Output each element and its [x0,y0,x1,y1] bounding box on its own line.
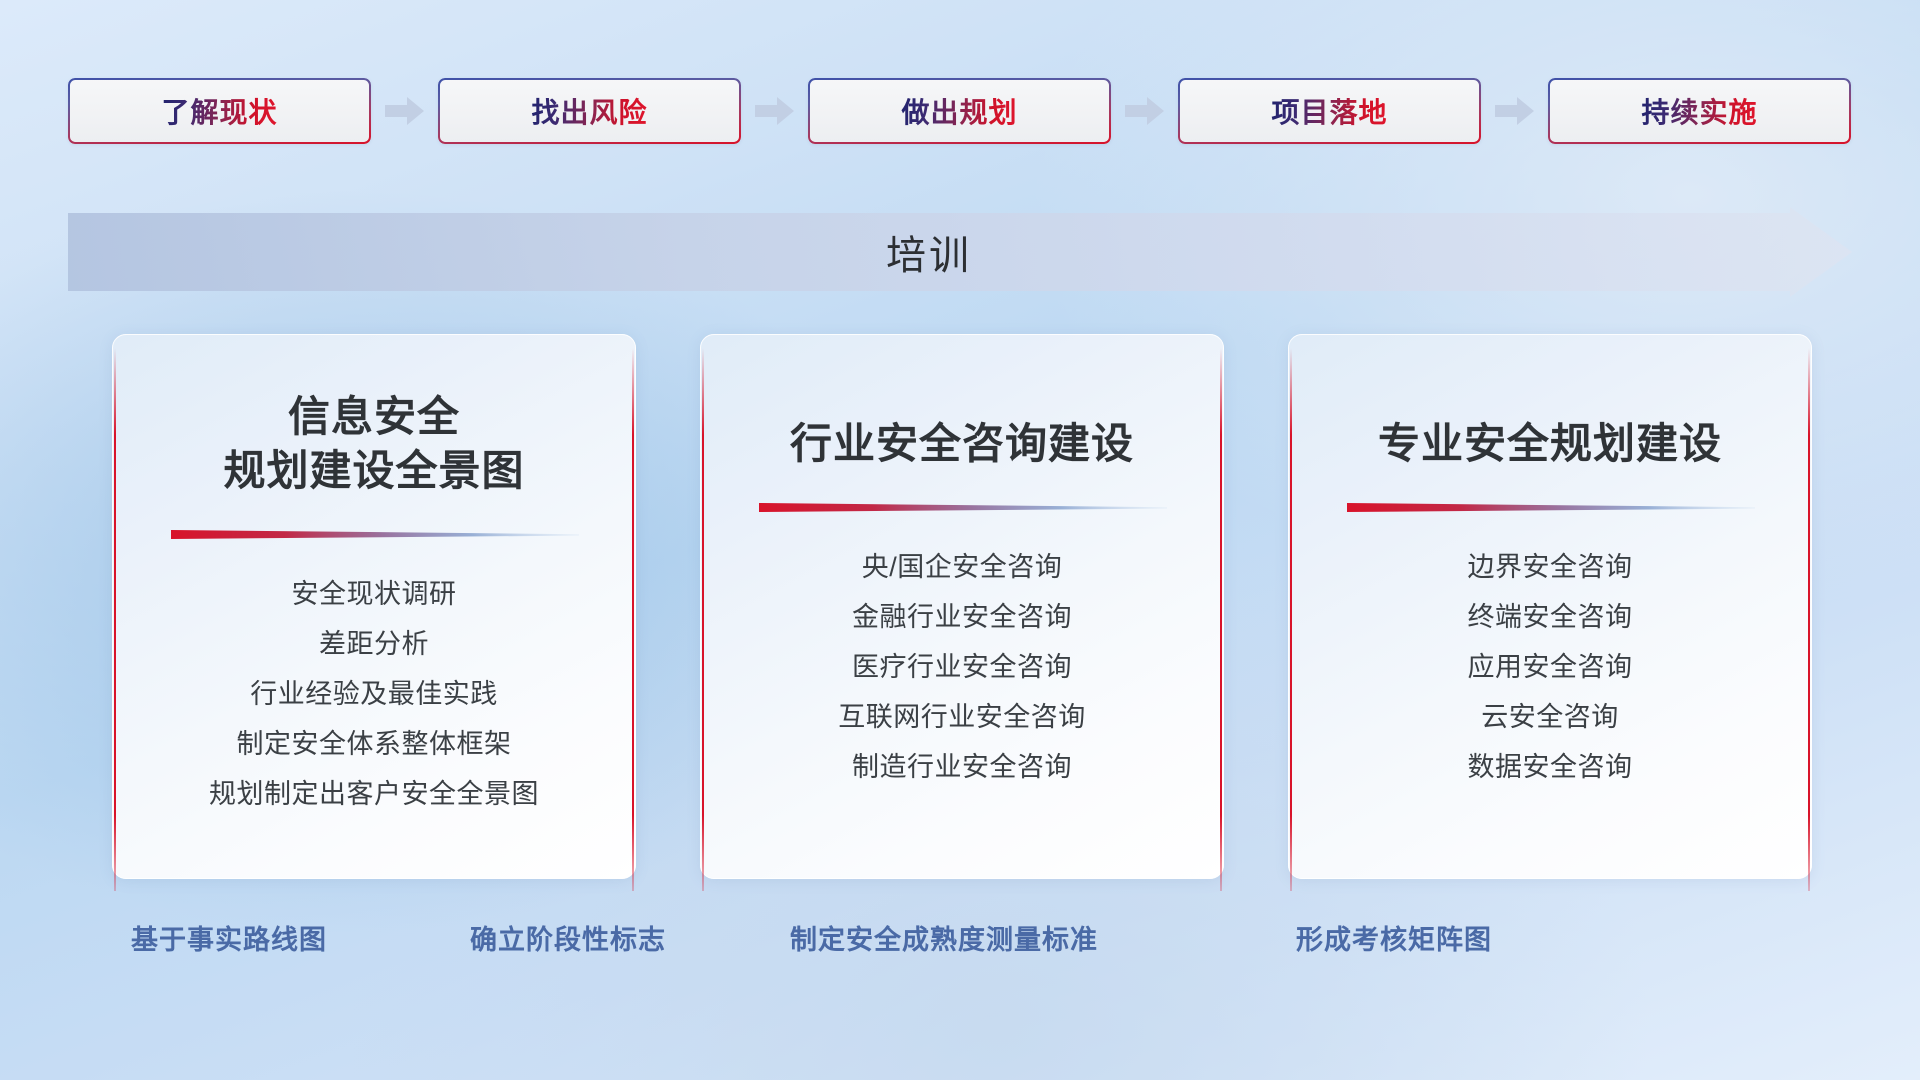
card-row: 信息安全 规划建设全景图安全现状调研差距分析行业经验及最佳实践制定安全体系整体框… [112,334,1812,879]
card-list-item[interactable]: 金融行业安全咨询 [730,592,1194,642]
card-accent-rail-left [114,348,116,891]
card-item-list: 央/国企安全咨询金融行业安全咨询医疗行业安全咨询互联网行业安全咨询制造行业安全咨… [730,542,1194,793]
process-step-label: 持续实施 [1641,91,1757,131]
card-divider [757,501,1167,514]
process-step-2[interactable]: 找出风险 [438,78,741,144]
service-card-3[interactable]: 专业安全规划建设边界安全咨询终端安全咨询应用安全咨询云安全咨询数据安全咨询 [1288,334,1812,879]
process-step-1[interactable]: 了解现状 [68,78,371,144]
service-card-2[interactable]: 行业安全咨询建设央/国企安全咨询金融行业安全咨询医疗行业安全咨询互联网行业安全咨… [700,334,1224,879]
service-card-1[interactable]: 信息安全 规划建设全景图安全现状调研差距分析行业经验及最佳实践制定安全体系整体框… [112,334,636,879]
banner-label: 培训 [68,207,1852,297]
card-list-item[interactable]: 终端安全咨询 [1318,592,1782,642]
card-list-item[interactable]: 规划制定出客户安全全景图 [142,769,606,819]
card-list-item[interactable]: 边界安全咨询 [1318,542,1782,592]
process-step-row: 了解现状找出风险做出规划项目落地持续实施 [68,78,1852,144]
process-step-label: 做出规划 [901,91,1017,131]
process-step-4[interactable]: 项目落地 [1178,78,1481,144]
process-step-5[interactable]: 持续实施 [1548,78,1851,144]
process-step-3[interactable]: 做出规划 [808,78,1111,144]
right-block-arrow-icon [1495,96,1535,126]
card-title: 行业安全咨询建设 [730,390,1194,471]
training-banner: 培训 [68,207,1852,297]
card-accent-rail-right [1808,348,1810,891]
card-list-item[interactable]: 行业经验及最佳实践 [142,669,606,719]
caption-row: 基于事实路线图确立阶段性标志制定安全成熟度测量标准形成考核矩阵图 [0,918,1920,968]
card-list-item[interactable]: 医疗行业安全咨询 [730,642,1194,692]
card-accent-rail-left [1290,348,1292,891]
process-arrow-1 [371,91,438,131]
process-step-label: 找出风险 [531,91,647,131]
card-title: 信息安全 规划建设全景图 [142,390,606,498]
card-list-item[interactable]: 互联网行业安全咨询 [730,692,1194,742]
card-accent-rail-right [1220,348,1222,891]
process-step-label: 项目落地 [1271,91,1387,131]
process-step-label: 了解现状 [161,91,277,131]
caption-3: 制定安全成熟度测量标准 [790,918,1098,957]
card-list-item[interactable]: 数据安全咨询 [1318,742,1782,792]
card-item-list: 安全现状调研差距分析行业经验及最佳实践制定安全体系整体框架规划制定出客户安全全景… [142,569,606,820]
right-block-arrow-icon [385,96,425,126]
right-block-arrow-icon [755,96,795,126]
card-list-item[interactable]: 安全现状调研 [142,569,606,619]
caption-1: 基于事实路线图 [131,918,327,957]
card-list-item[interactable]: 制造行业安全咨询 [730,742,1194,792]
card-title: 专业安全规划建设 [1318,390,1782,471]
right-block-arrow-icon [1125,96,1165,126]
card-divider [169,528,579,541]
slide-canvas: 了解现状找出风险做出规划项目落地持续实施 培训 信息安全 规划建设全景图安全现状… [0,0,1920,1080]
card-list-item[interactable]: 应用安全咨询 [1318,642,1782,692]
card-list-item[interactable]: 云安全咨询 [1318,692,1782,742]
caption-4: 形成考核矩阵图 [1296,918,1492,957]
card-accent-rail-left [702,348,704,891]
card-list-item[interactable]: 制定安全体系整体框架 [142,719,606,769]
card-divider [1345,501,1755,514]
card-accent-rail-right [632,348,634,891]
caption-2: 确立阶段性标志 [470,918,666,957]
process-arrow-3 [1111,91,1178,131]
card-item-list: 边界安全咨询终端安全咨询应用安全咨询云安全咨询数据安全咨询 [1318,542,1782,793]
card-list-item[interactable]: 差距分析 [142,619,606,669]
process-arrow-2 [741,91,808,131]
card-list-item[interactable]: 央/国企安全咨询 [730,542,1194,592]
process-arrow-4 [1481,91,1548,131]
